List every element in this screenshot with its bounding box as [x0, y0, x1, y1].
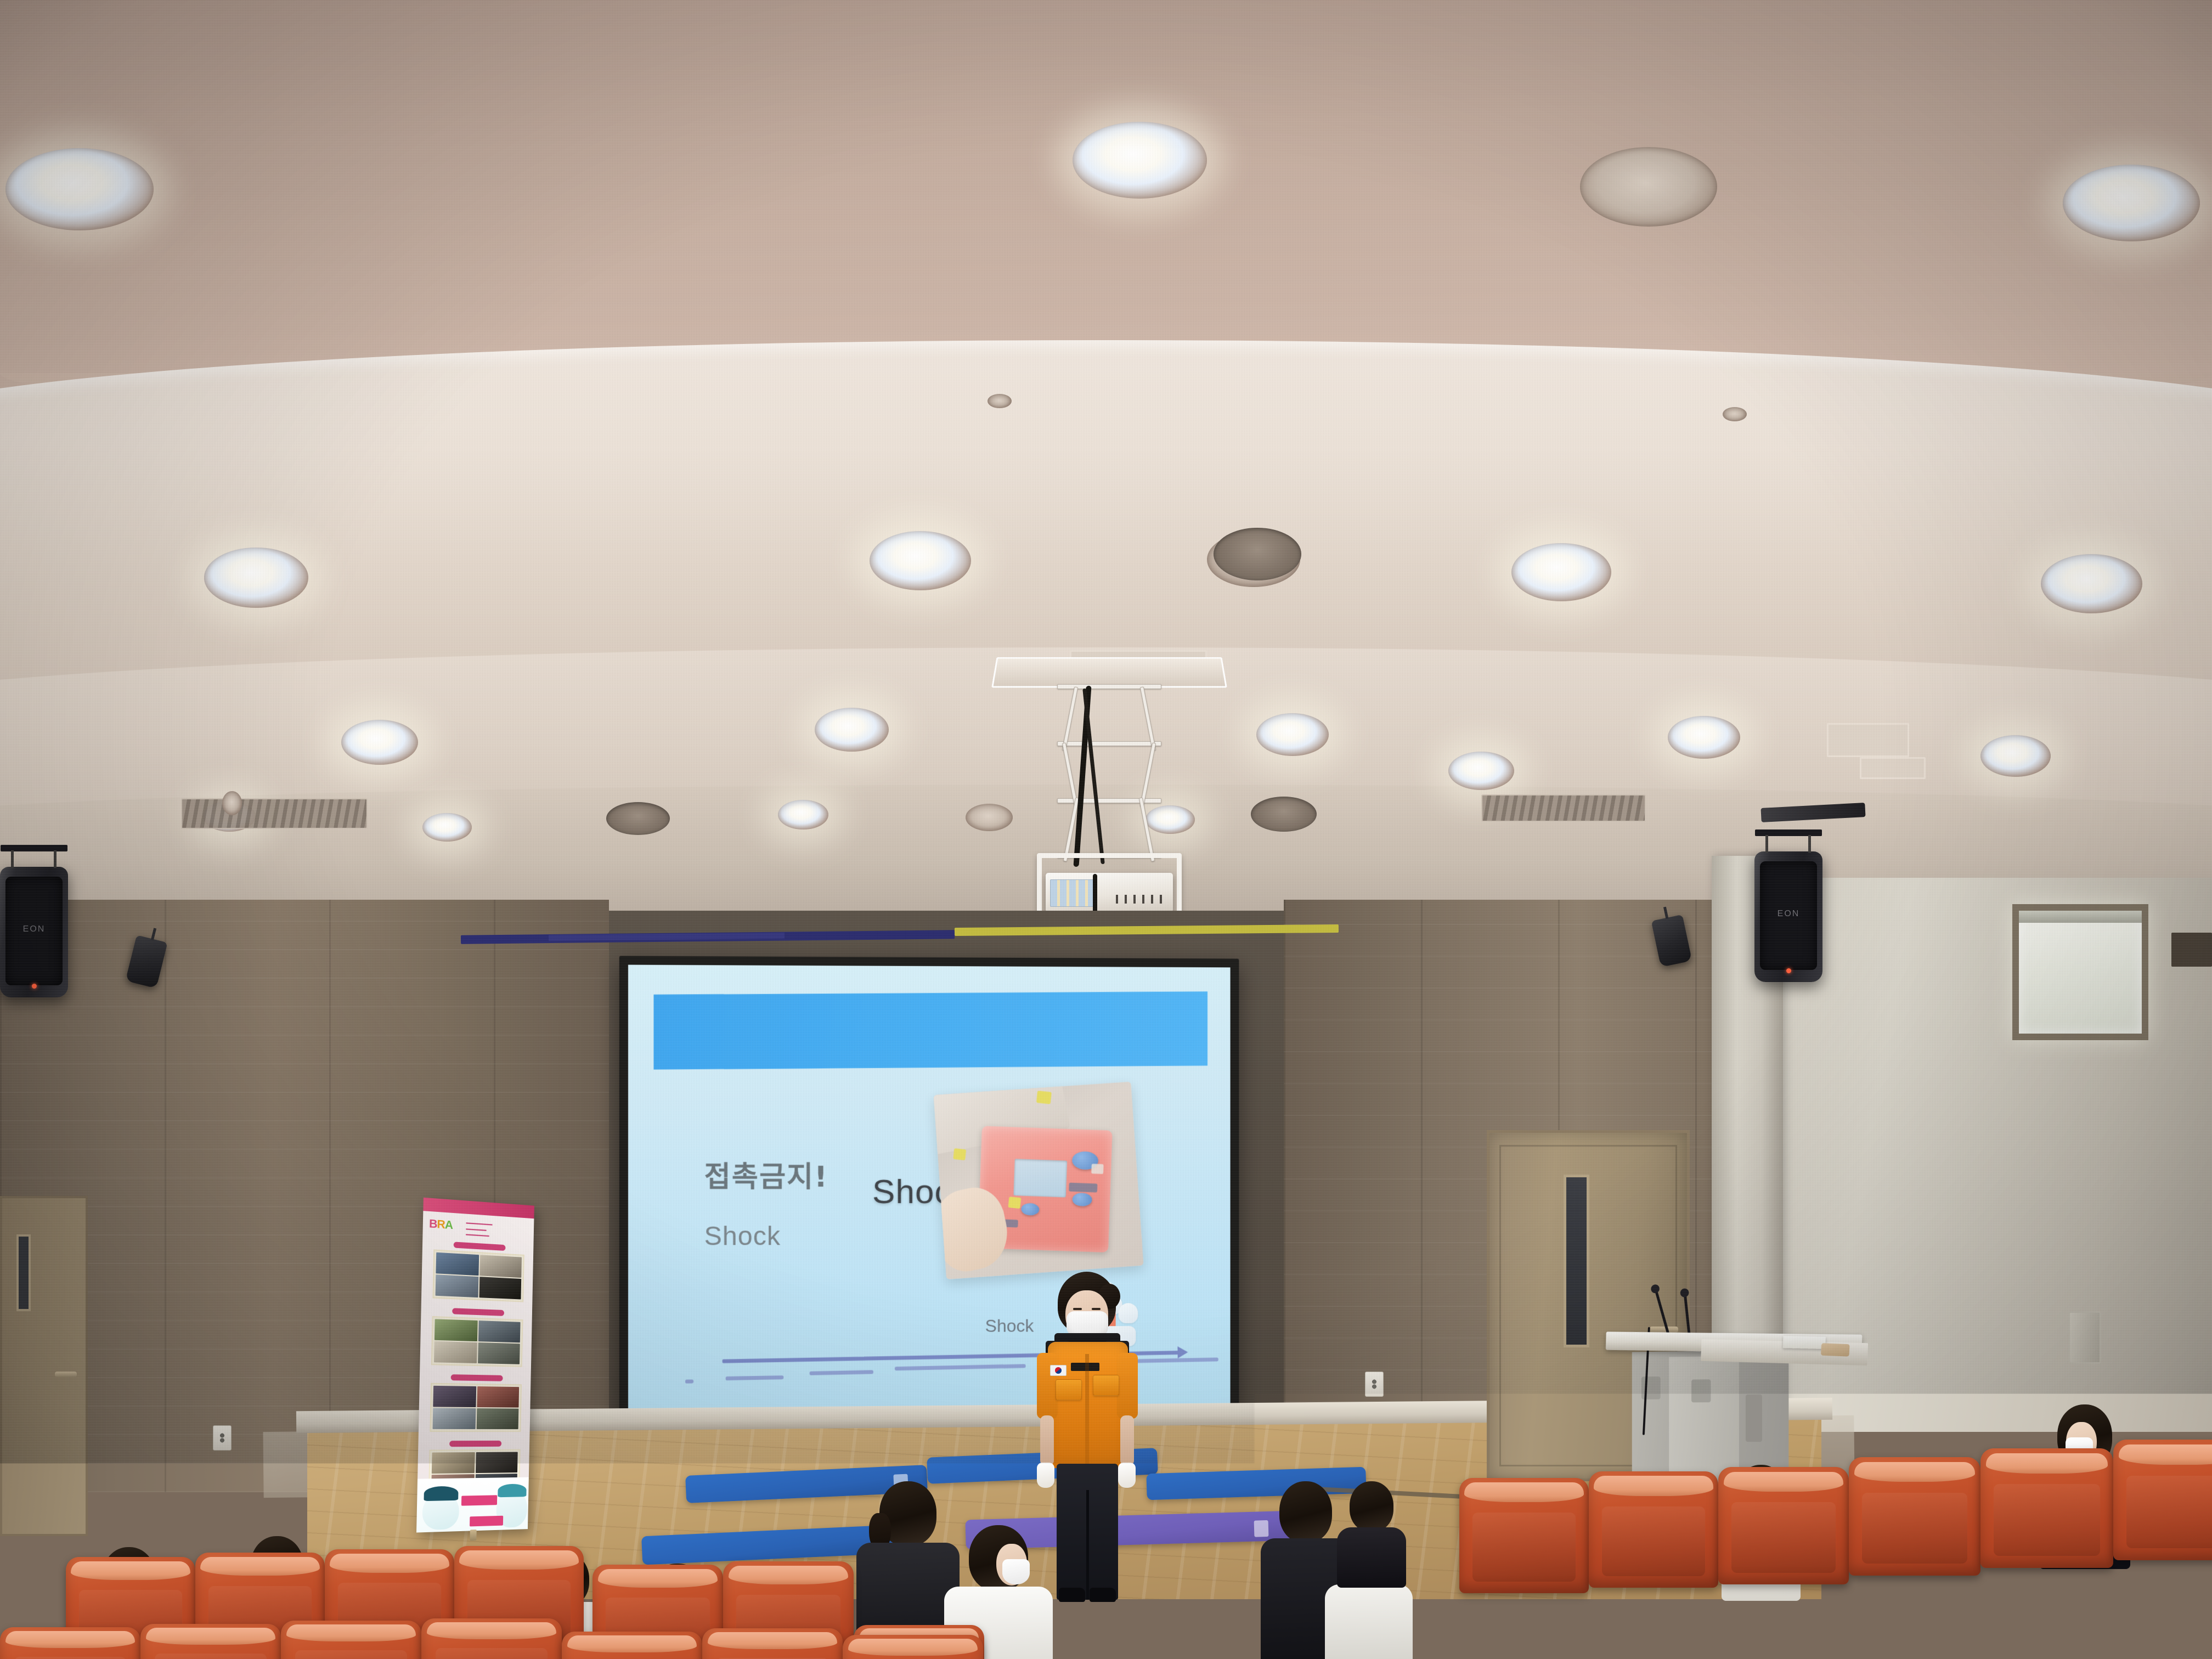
banner-section-title: [451, 1374, 503, 1381]
banner-headline-text: ▂▂▂▂▂▂▂▂▂▂▂▂▂▂▂▂▂▂▂▂▂▂▂▂: [466, 1220, 529, 1241]
downlight-icon: [1073, 122, 1207, 199]
auditorium-seat[interactable]: [1278, 1634, 1420, 1659]
banner-photo-grid: [431, 1316, 523, 1367]
wall-outlet-icon[interactable]: [213, 1425, 232, 1451]
banner-logo-char: B: [429, 1217, 437, 1231]
lectern-papers: [1783, 1336, 1826, 1349]
auditorium-seat[interactable]: [1561, 1625, 1703, 1659]
aed-electrode-pad: [953, 1148, 967, 1160]
ceiling-speaker-right: EON: [1754, 851, 1822, 982]
banner-logo: BRA: [429, 1217, 453, 1232]
banner-section: [431, 1374, 522, 1375]
banner-photo: [434, 1341, 477, 1363]
auditorium-seat[interactable]: [1986, 1612, 2128, 1659]
ceiling-speaker-left: EON: [0, 867, 68, 997]
slide-aed-photo: [934, 1082, 1144, 1280]
downlight-icon: [815, 708, 889, 752]
audience-head: [1350, 1481, 1393, 1532]
booth-blind-icon: [2019, 911, 2142, 923]
auditorium-seat[interactable]: [1844, 1616, 1986, 1659]
control-booth-window: [2012, 904, 2148, 1040]
banner-photo: [477, 1408, 519, 1429]
downlight-icon: [5, 148, 154, 230]
mascot-hat-icon: [498, 1484, 527, 1498]
roll-up-banner: BRA ▂▂▂▂▂▂▂▂▂▂▂▂▂▂▂▂▂▂▂▂▂▂▂▂: [416, 1198, 534, 1533]
downlight-icon: [2063, 165, 2200, 241]
audience-head: [1279, 1481, 1332, 1543]
auditorium-seat[interactable]: [702, 1628, 843, 1659]
banner-photo: [435, 1319, 478, 1341]
aed-electrode-pad: [1037, 1091, 1052, 1104]
projector-filter-icon: [1050, 879, 1096, 907]
lectern-vent-icon: [1691, 1379, 1711, 1402]
presenter-shirt-placket: [1085, 1354, 1089, 1468]
projector-scissor-lift: [1057, 684, 1161, 860]
presenter-chest-pocket: [1056, 1379, 1082, 1400]
downlight-icon: [966, 804, 1013, 831]
slide-korean-text: 접촉금지!: [704, 1153, 828, 1194]
banner-section: [432, 1307, 523, 1311]
auditorium-seat[interactable]: [843, 1635, 983, 1659]
banner-section: [434, 1240, 525, 1246]
presenter-chest-pocket: [1093, 1375, 1119, 1396]
presenter-eye: [1092, 1308, 1101, 1310]
speaker-brand-label: EON: [1754, 909, 1822, 919]
banner-photo: [479, 1277, 522, 1299]
banner-photo: [478, 1342, 520, 1364]
downlight-icon: [341, 720, 418, 765]
presenter-shoe: [1090, 1588, 1116, 1602]
auditorium-seat[interactable]: [140, 1624, 281, 1659]
speaker-chain: [1765, 835, 1768, 853]
aed-display-icon: [1014, 1159, 1068, 1198]
banner-photo: [476, 1452, 518, 1474]
smoke-detector-icon: [988, 394, 1012, 408]
slide-english-text: Shock: [704, 1221, 781, 1251]
side-door-window-icon: [16, 1234, 31, 1311]
door-vision-panel-icon: [1564, 1175, 1589, 1347]
wall-vent-icon: [2171, 933, 2212, 967]
downlight-icon: [870, 531, 971, 590]
projector-hanging-cable: [1093, 874, 1097, 916]
banner-base-pole: [470, 1530, 476, 1541]
ceiling-air-grille-icon: [181, 798, 368, 829]
ceiling-air-grille-icon: [1481, 794, 1646, 822]
banner-photo: [432, 1452, 475, 1474]
audience-face-mask: [1002, 1559, 1030, 1584]
presenter-forearm: [1120, 1415, 1134, 1466]
wall-outlet-icon[interactable]: [1365, 1372, 1384, 1397]
downlight-icon: [1980, 735, 2051, 777]
mascot-hat-icon: [424, 1486, 458, 1502]
presenter-sleeve: [1117, 1353, 1138, 1419]
presenter-shoe: [1059, 1588, 1085, 1602]
ceiling-square-vent-icon: [1827, 723, 1909, 757]
speaker-chain: [54, 850, 57, 868]
banner-photo: [479, 1255, 522, 1278]
aed-label-bar: [1092, 1164, 1104, 1175]
slide-progress-dash: [685, 1380, 694, 1384]
banner-photo-grid: [430, 1383, 522, 1432]
banner-accent-box: [470, 1516, 503, 1527]
korean-flag-patch-icon: [1050, 1365, 1066, 1376]
banner-logo-char: A: [445, 1218, 453, 1232]
presenter-eye: [1073, 1308, 1082, 1310]
banner-photo: [433, 1386, 476, 1407]
ceiling-vent-icon: [606, 802, 670, 835]
projector-body: [1046, 873, 1173, 912]
banner-section-title: [449, 1441, 501, 1447]
downlight-icon: [1448, 752, 1514, 790]
ceiling-soffit-band-upper: [0, 340, 2212, 691]
banner-accent-box: [461, 1495, 497, 1505]
speaker-power-led-icon: [32, 984, 37, 989]
presenter-glove: [1118, 1463, 1136, 1488]
ceiling-square-vent-icon: [1860, 757, 1926, 779]
lectern-item: [1821, 1343, 1850, 1356]
aed-label-bar: [1069, 1183, 1098, 1192]
lectern-control-panel-icon[interactable]: [1746, 1395, 1762, 1442]
banner-logo-char: R: [437, 1218, 445, 1231]
banner-section-title: [454, 1242, 506, 1251]
projector-ceiling-hatch: [991, 657, 1227, 688]
aed-button-icon: [1022, 1203, 1040, 1216]
auditorium-seat[interactable]: [562, 1632, 702, 1659]
downlight-icon: [422, 813, 472, 842]
presenter-glove: [1037, 1463, 1054, 1488]
smoke-detector-icon: [1723, 407, 1747, 421]
auditorium-seat[interactable]: [0, 1627, 140, 1659]
ceiling-vent-icon: [1214, 528, 1301, 580]
banner-photo-grid: [432, 1249, 524, 1302]
downlight-icon: [778, 800, 828, 830]
wall-speaker-small: [2068, 1311, 2101, 1364]
banner-section-title: [452, 1308, 504, 1316]
downlight-icon: [2041, 554, 2142, 613]
auditorium-photo: EON EON Shock!! 접촉금지! Shock: [0, 0, 2212, 1659]
banner-photo: [432, 1408, 476, 1429]
auditorium-seat[interactable]: [421, 1618, 562, 1659]
presenter-sleeve: [1037, 1353, 1058, 1419]
aed-button-icon: [1073, 1193, 1092, 1207]
banner-photo: [436, 1274, 479, 1297]
banner-footer-illustration: [416, 1477, 529, 1533]
side-door-left[interactable]: [0, 1196, 88, 1536]
speaker-power-led-icon: [1786, 968, 1791, 973]
banner-photo: [478, 1321, 521, 1342]
ceiling-projector-assembly: [1027, 656, 1192, 941]
presenter-trouser-seam: [1086, 1490, 1089, 1600]
door-handle-icon[interactable]: [1650, 1327, 1678, 1333]
downlight-icon: [1580, 147, 1717, 227]
downlight-icon: [1256, 713, 1329, 756]
auditorium-seat[interactable]: [281, 1621, 421, 1659]
downlight-icon: [1511, 543, 1611, 601]
ceiling-vent-icon: [1251, 797, 1317, 832]
banner-photo: [436, 1252, 479, 1276]
aed-electrode-pad: [1008, 1197, 1022, 1209]
auditorium-seat[interactable]: [2128, 1607, 2212, 1659]
auditorium-seat[interactable]: [1420, 1629, 1561, 1659]
auditorium-seat[interactable]: [1703, 1621, 1844, 1659]
presenter-forearm: [1040, 1415, 1054, 1466]
downlight-icon: [1668, 716, 1740, 759]
speaker-chain: [11, 850, 14, 868]
speaker-brand-label: EON: [0, 924, 68, 934]
side-door-handle-icon: [55, 1372, 77, 1377]
speaker-chain: [1808, 835, 1811, 853]
banner-photo: [477, 1386, 519, 1408]
projector-ports-icon: [1116, 895, 1167, 904]
sprinkler-head-icon: [222, 791, 242, 815]
downlight-icon: [204, 548, 308, 608]
